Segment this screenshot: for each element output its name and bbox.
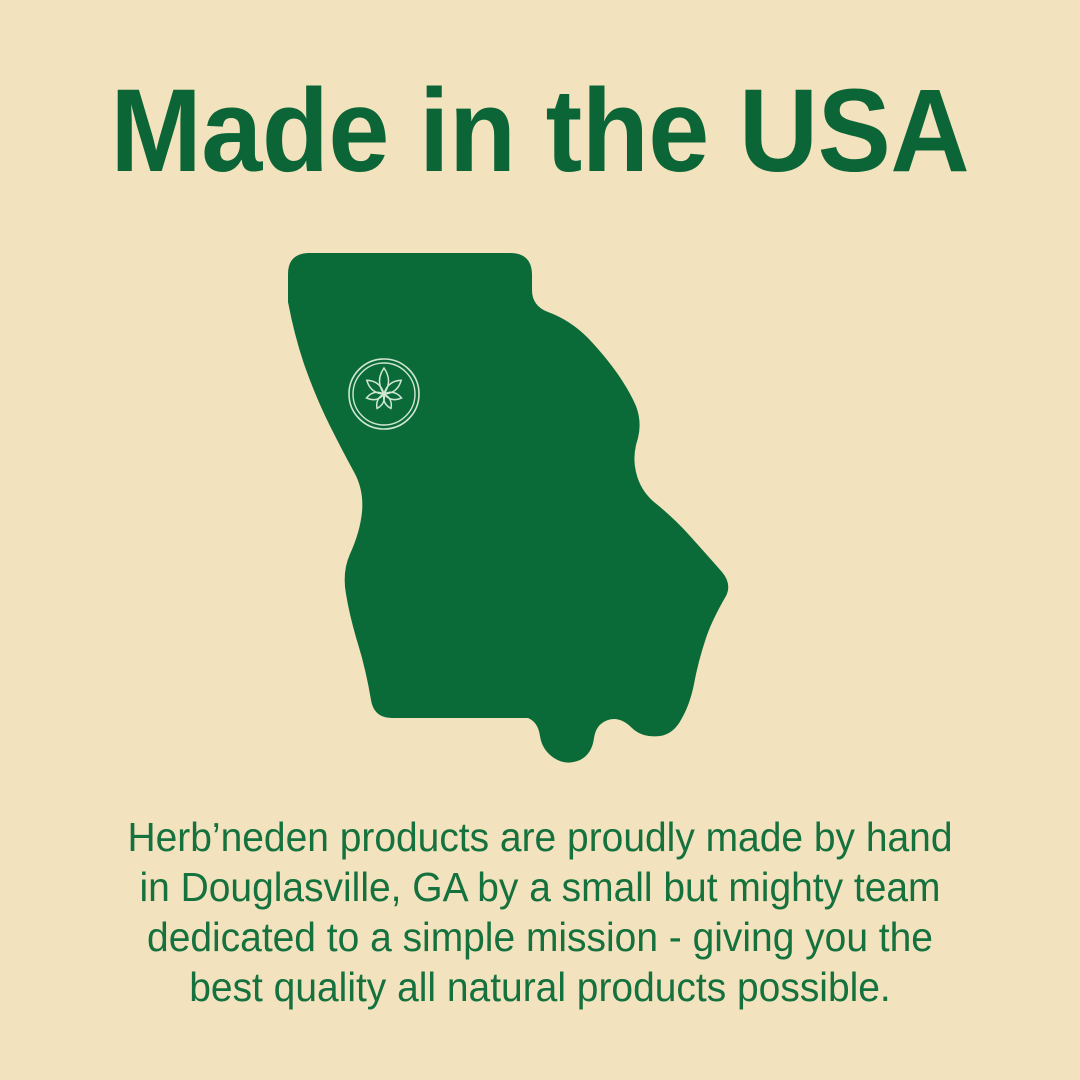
georgia-state-map — [270, 228, 810, 778]
body-line: dedicated to a simple mission - giving y… — [84, 912, 996, 962]
headline-container: Made in the USA — [0, 72, 1080, 190]
page-title: Made in the USA — [111, 72, 970, 190]
georgia-state-shape — [288, 253, 728, 763]
body-line: in Douglasville, GA by a small but might… — [84, 862, 996, 912]
body-line: best quality all natural products possib… — [84, 962, 996, 1012]
body-text-container: Herb’neden products are proudly made by … — [0, 812, 1080, 1012]
body-line: Herb’neden products are proudly made by … — [84, 812, 996, 862]
made-in-usa-poster: Made in the USA — [0, 0, 1080, 1080]
map-container — [0, 228, 1080, 778]
